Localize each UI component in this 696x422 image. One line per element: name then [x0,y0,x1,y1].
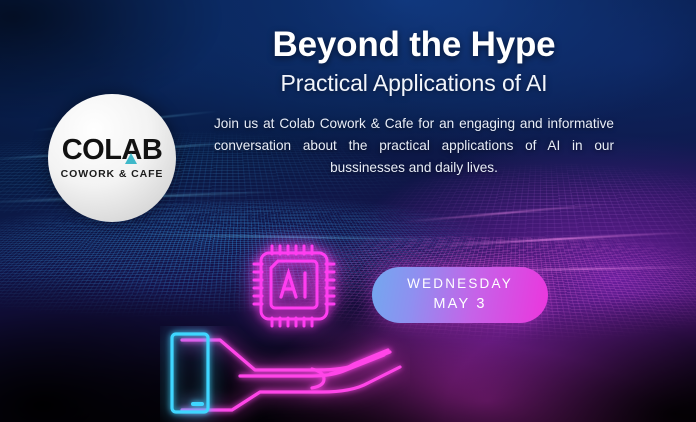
colab-logo-badge: COLAB COWORK & CAFE [48,94,176,222]
open-hand-icon [160,326,410,422]
poster-body-text: Join us at Colab Cowork & Cafe for an en… [214,113,614,179]
ai-chip-icon [248,240,340,332]
logo-triangle-icon [125,153,137,164]
logo-tagline: COWORK & CAFE [61,168,164,180]
poster-subtitle: Practical Applications of AI [214,70,614,97]
event-poster: COLAB COWORK & CAFE Beyond the Hype Prac… [0,0,696,422]
date-day-label: WEDNESDAY [407,274,513,294]
logo-wordmark: COLAB [62,136,163,165]
date-badge[interactable]: WEDNESDAY MAY 3 [372,267,548,323]
poster-title: Beyond the Hype [214,26,614,64]
logo-name: COLAB [62,134,163,166]
date-date-label: MAY 3 [433,294,486,316]
headline-block: Beyond the Hype Practical Applications o… [214,26,614,179]
